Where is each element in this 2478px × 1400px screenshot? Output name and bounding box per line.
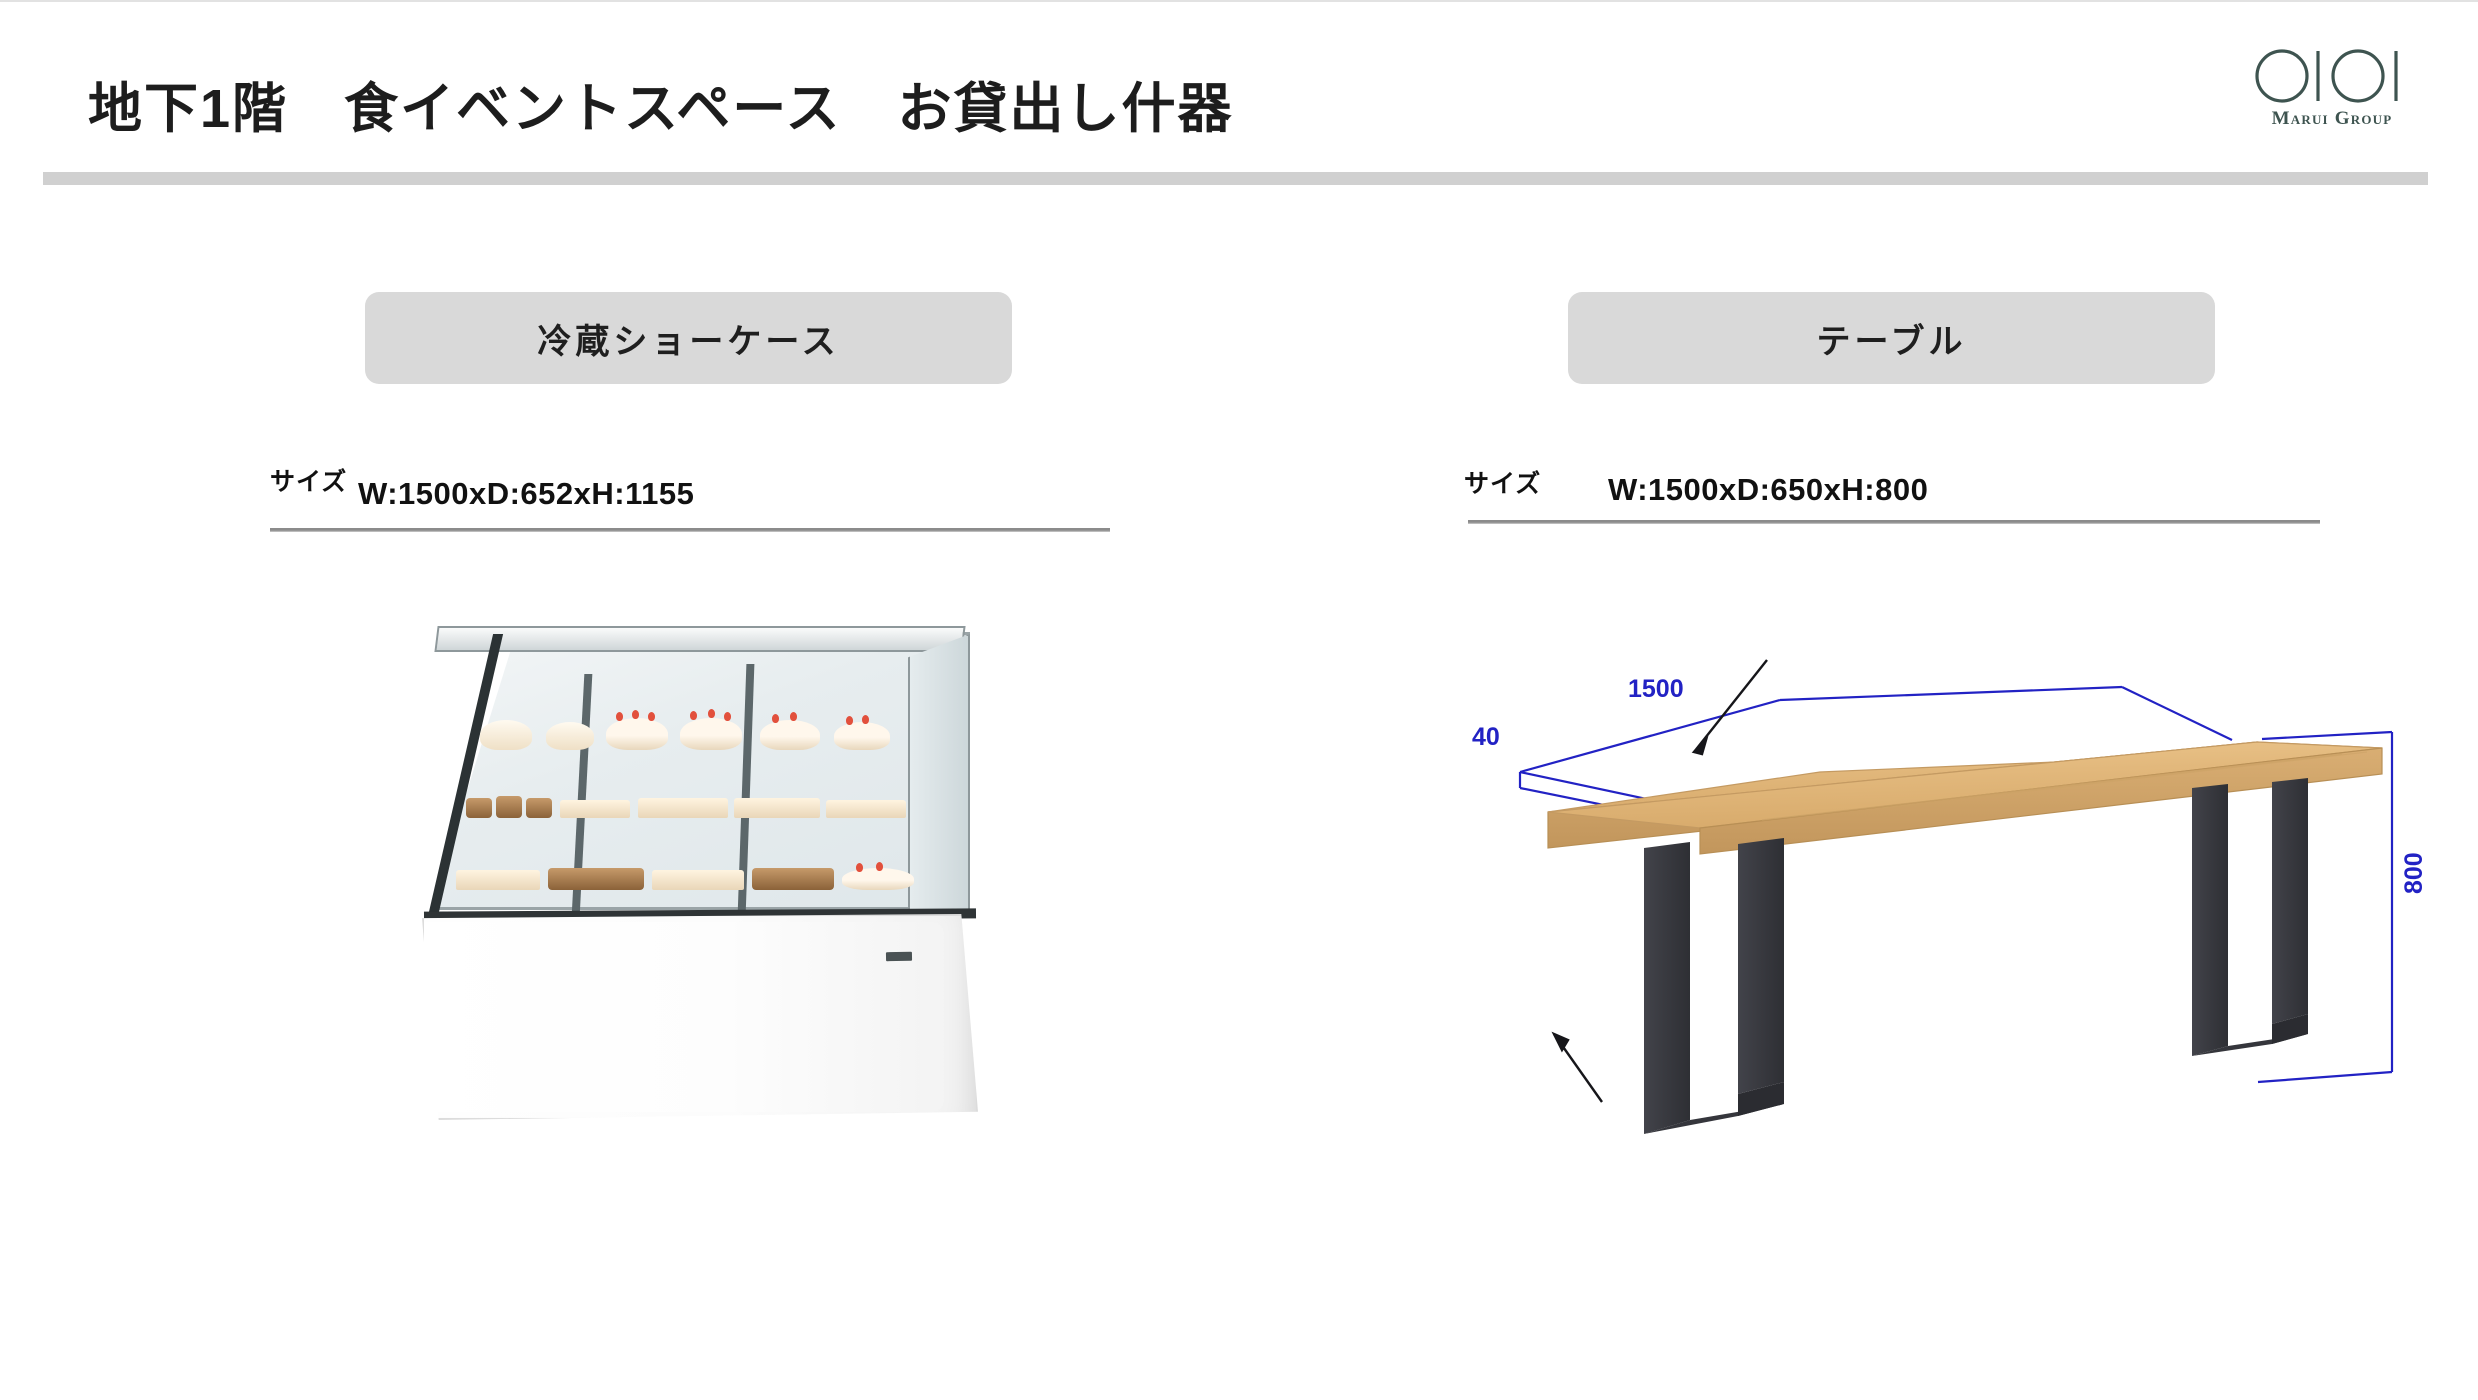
size-row-showcase: サイズ W:1500xD:652xH:1155 xyxy=(365,462,1125,514)
size-underline-showcase xyxy=(270,528,1110,532)
size-label-showcase: サイズ xyxy=(270,462,347,498)
cake-item xyxy=(456,870,540,890)
cake-item xyxy=(834,722,890,750)
dimension-label-height: 800 xyxy=(2400,852,2429,894)
cake-item xyxy=(842,868,914,890)
header-divider xyxy=(43,172,2428,185)
cake-item xyxy=(752,868,834,890)
showcase-brand-badge xyxy=(886,952,912,961)
cake-item xyxy=(734,798,820,818)
dimension-label-depth: 40 xyxy=(1472,723,1500,752)
cake-item xyxy=(606,718,668,750)
showcase-top-cap xyxy=(434,626,965,652)
cake-item xyxy=(638,798,728,818)
table-top xyxy=(1548,742,2382,854)
cake-item xyxy=(826,800,906,818)
cake-item xyxy=(526,798,552,818)
marui-group-logo: Marui Group xyxy=(2234,46,2430,142)
cake-item xyxy=(548,868,644,890)
showcase-base-cabinet xyxy=(422,914,978,1120)
table-leg-front xyxy=(1644,838,1784,1134)
product-column-table: テーブル サイズ W:1500xD:650xH:800 xyxy=(1568,292,2328,514)
cake-item xyxy=(680,718,742,750)
size-label-table: サイズ xyxy=(1464,464,1541,500)
table-leg-back xyxy=(2192,778,2308,1056)
cake-item xyxy=(652,870,744,890)
cake-item xyxy=(466,798,492,818)
table-illustration: 1500 40 800 xyxy=(1462,642,2462,1142)
product-title-showcase: 冷蔵ショーケース xyxy=(365,292,1012,384)
oioi-mark-icon xyxy=(2254,46,2410,106)
table-technical-drawing xyxy=(1462,642,2462,1142)
cake-item xyxy=(480,720,532,750)
cake-item xyxy=(496,796,522,818)
product-column-showcase: 冷蔵ショーケース サイズ W:1500xD:652xH:1155 xyxy=(365,292,1125,514)
product-title-table: テーブル xyxy=(1568,292,2215,384)
showcase-side-panel xyxy=(908,634,970,926)
cake-item xyxy=(546,722,594,750)
size-underline-table xyxy=(1468,520,2320,524)
showcase-illustration xyxy=(370,622,1030,1152)
page-title: 地下1階 食イベントスペース お貸出し什器 xyxy=(88,64,1234,143)
logo-wordmark: Marui Group xyxy=(2234,108,2430,130)
size-row-table: サイズ W:1500xD:650xH:800 xyxy=(1568,462,2328,514)
size-value-showcase: W:1500xD:652xH:1155 xyxy=(358,476,694,512)
dimension-label-width: 1500 xyxy=(1628,675,1684,704)
cake-item xyxy=(560,800,630,818)
size-value-table: W:1500xD:650xH:800 xyxy=(1608,472,1928,508)
cake-item xyxy=(760,720,820,750)
slide-page: 地下1階 食イベントスペース お貸出し什器 Marui Group 冷蔵ショーケ… xyxy=(0,0,2478,1400)
